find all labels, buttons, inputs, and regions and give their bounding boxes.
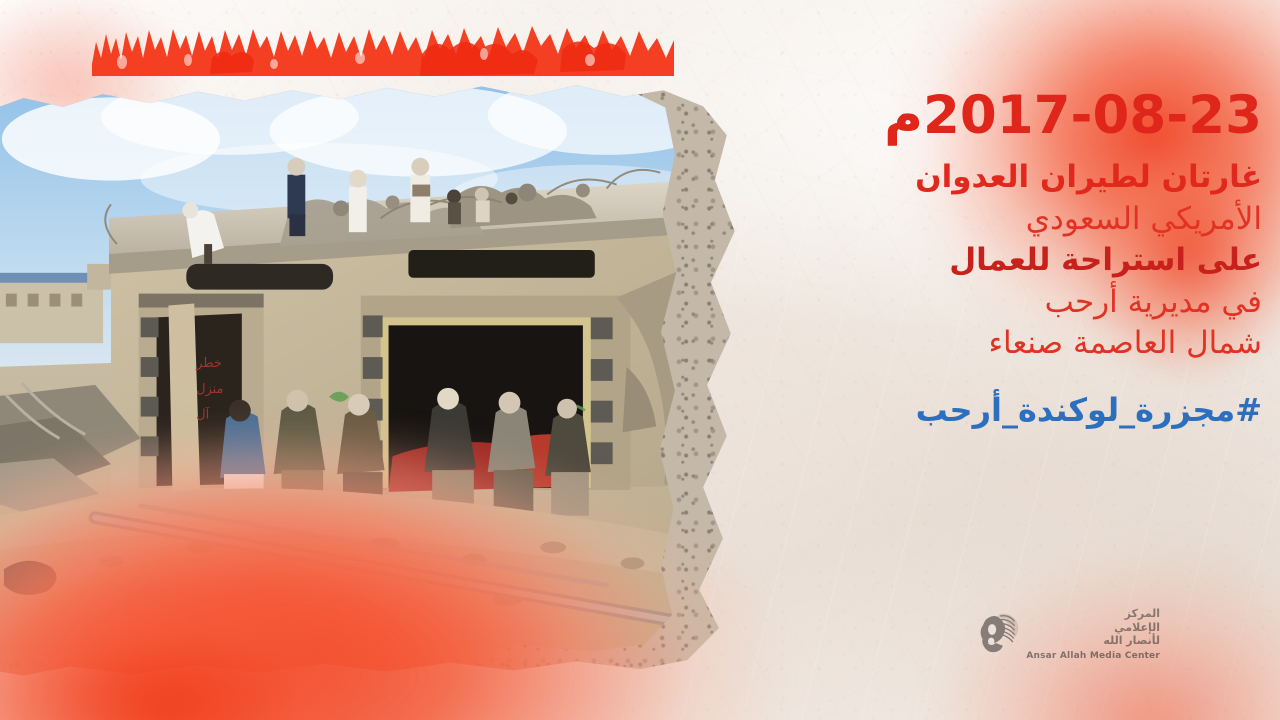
svg-text:خطر: خطر bbox=[195, 356, 222, 371]
photo-image: خطر منزل آل bbox=[0, 72, 686, 662]
caption-text-block: 2017-08-23م غارتان لطيران العدوان الأمري… bbox=[842, 88, 1262, 429]
svg-text:منزل: منزل bbox=[196, 382, 223, 397]
date-headline: 2017-08-23م bbox=[842, 88, 1262, 143]
logo-english-name: Ansar Allah Media Center bbox=[1026, 651, 1160, 662]
caption-line-2: الأمريكي السعودي bbox=[842, 199, 1262, 241]
photo-torn-frame: خطر منزل آل bbox=[0, 52, 782, 692]
logo-arabic-line-3: لأنصار الله bbox=[1026, 634, 1160, 648]
destroyed-building-illustration: خطر منزل آل bbox=[0, 72, 686, 662]
poster-canvas: خطر منزل آل bbox=[0, 0, 1280, 720]
logo-arabic-line-2: الإعلامي bbox=[1026, 621, 1160, 635]
logo-text-group: المركز الإعلامي لأنصار الله Ansar Allah … bbox=[1026, 607, 1160, 662]
hashtag-label: #مجزرة_لوكندة_أرحب bbox=[842, 391, 1262, 429]
caption-line-5: شمال العاصمة صنعاء bbox=[842, 323, 1262, 365]
svg-text:آل: آل bbox=[196, 407, 210, 423]
logo-arabic-line-1: المركز bbox=[1026, 607, 1160, 621]
ansar-allah-fist-flag-icon bbox=[966, 607, 1020, 661]
caption-line-3: على استراحة للعمال bbox=[842, 240, 1262, 282]
caption-line-4: في مديرية أرحب bbox=[842, 282, 1262, 324]
photo-block: خطر منزل آل bbox=[0, 52, 782, 692]
caption-line-1: غارتان لطيران العدوان bbox=[842, 157, 1262, 199]
media-center-logo: المركز الإعلامي لأنصار الله Ansar Allah … bbox=[966, 607, 1160, 662]
